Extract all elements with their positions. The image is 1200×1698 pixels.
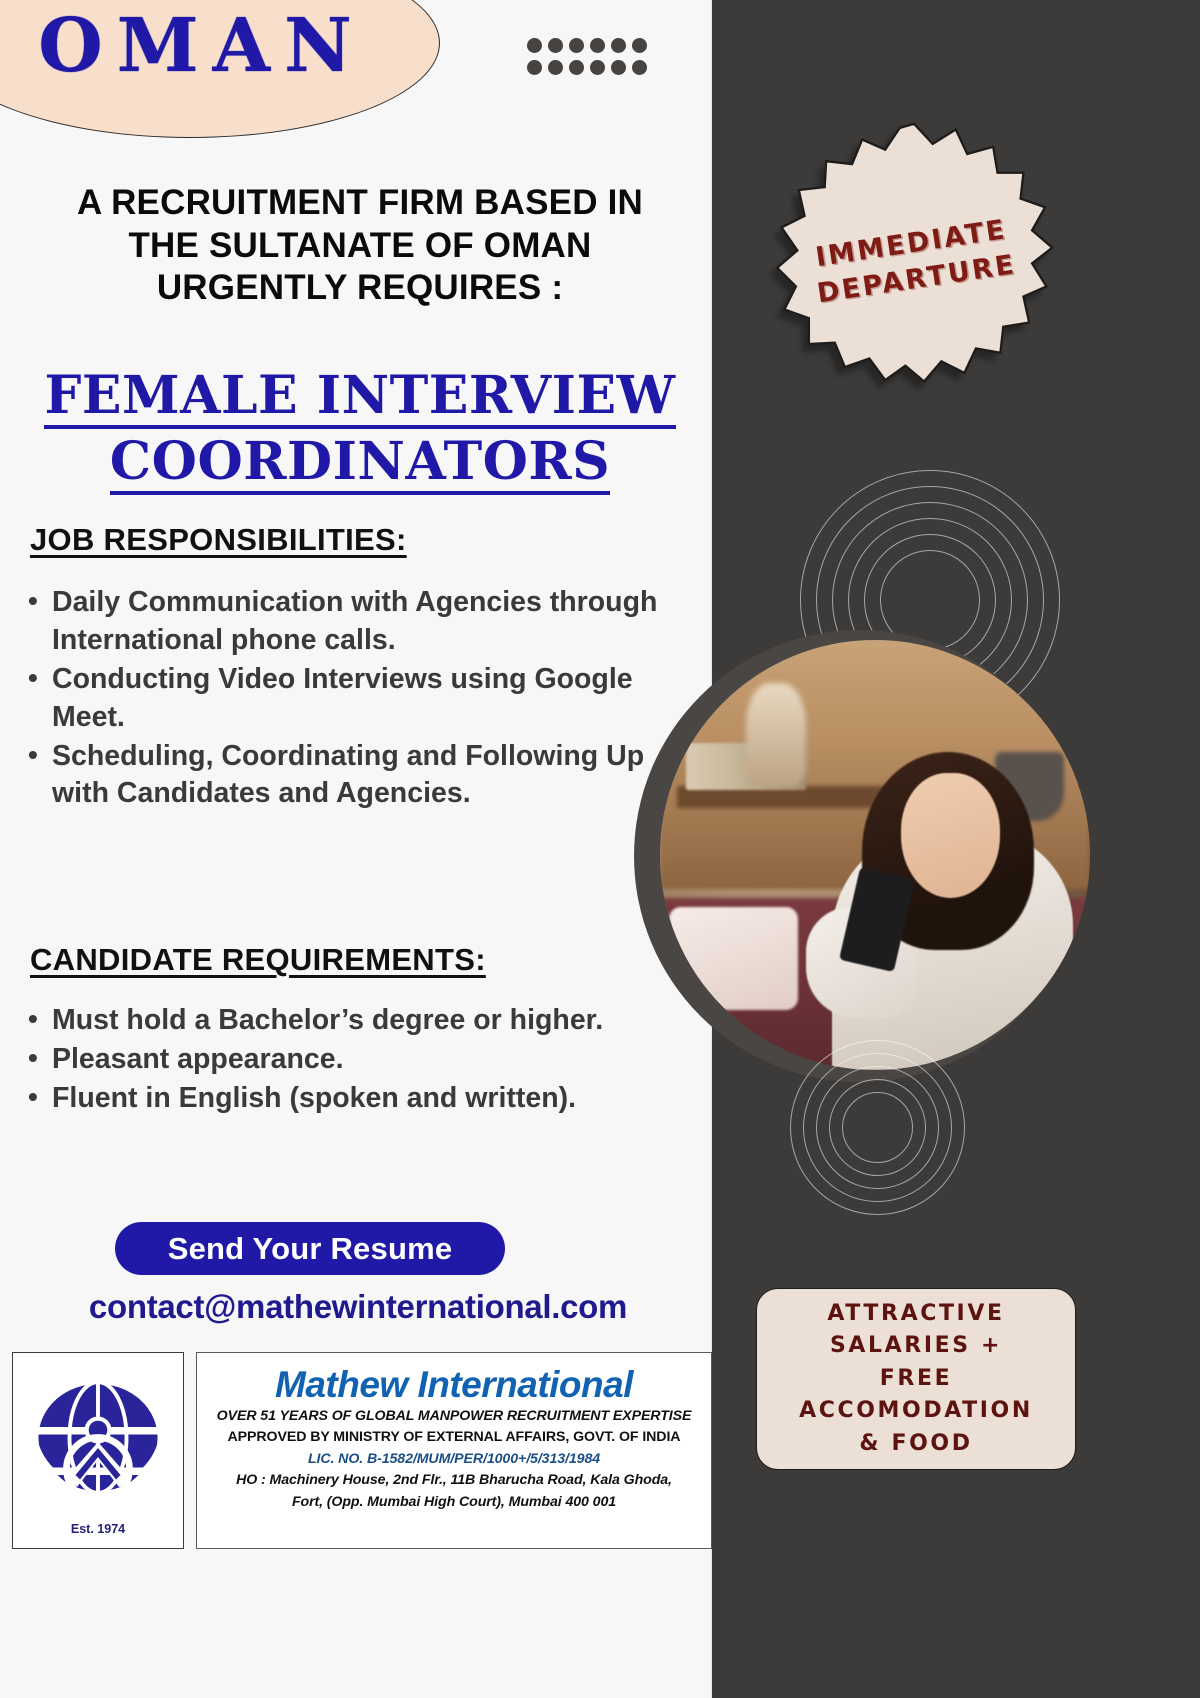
company-name: Mathew International [197,1365,711,1406]
photo-person-face [901,773,1000,898]
dot [527,38,542,53]
company-approval: APPROVED BY MINISTRY OF EXTERNAL AFFAIRS… [197,1427,711,1449]
headline-line-3: URGENTLY REQUIRES : [30,267,690,310]
country-badge-label: OMAN [14,0,365,89]
dot [611,60,626,75]
company-license: LIC. NO. B-1582/MUM/PER/1000+/5/313/1984 [197,1449,711,1471]
dot [569,60,584,75]
responsibilities-list: Daily Communication with Agencies throug… [22,584,672,814]
job-title-line-1: FEMALE INTERVIEW [44,368,675,429]
immediate-departure-text: IMMEDIATE DEPARTURE [744,97,1083,426]
recruitment-poster: OMAN A RECRUITMENT FIRM BASED IN THE SUL… [0,0,1200,1698]
dot [548,60,563,75]
send-resume-button[interactable]: Send Your Resume [115,1222,505,1275]
headline-line-1: A RECRUITMENT FIRM BASED IN [30,182,690,225]
job-title-line-2: COORDINATORS [110,434,610,495]
dot-grid-decoration [527,38,653,82]
requirements-list: Must hold a Bachelor’s degree or higher.… [22,1002,672,1119]
dot [590,60,605,75]
requirements-heading: CANDIDATE REQUIREMENTS: [30,942,486,978]
dot [527,60,542,75]
list-item: Fluent in English (spoken and written). [22,1080,672,1118]
salary-line-4: ACCOMODATION [799,1395,1033,1428]
salary-line-2: SALARIES + [830,1330,1002,1363]
list-item: Scheduling, Coordinating and Following U… [22,738,672,814]
photo-pillow [669,907,798,1010]
logo-established-year: Est. 1974 [13,1522,183,1536]
dot [569,38,584,53]
dot [590,38,605,53]
page-title: FEMALE INTERVIEW COORDINATORS [20,368,700,495]
company-address-line-1: HO : Machinery House, 2nd Flr., 11B Bhar… [197,1470,711,1492]
contact-email[interactable]: contact@mathewinternational.com [18,1288,698,1326]
responsibilities-heading: JOB RESPONSIBILITIES: [30,522,407,558]
list-item: Conducting Video Interviews using Google… [22,661,672,737]
company-address-line-2: Fort, (Opp. Mumbai High Court), Mumbai 4… [197,1492,711,1514]
salary-line-1: ATTRACTIVE [827,1298,1004,1331]
dot [632,38,647,53]
company-info-box: Mathew International OVER 51 YEARS OF GL… [196,1352,712,1549]
candidate-photo [660,640,1090,1070]
list-item: Daily Communication with Agencies throug… [22,584,672,660]
headline: A RECRUITMENT FIRM BASED IN THE SULTANAT… [30,182,690,310]
dot [548,38,563,53]
company-logo-box: Est. 1974 [12,1352,184,1549]
list-item: Must hold a Bachelor’s degree or higher. [22,1002,672,1040]
globe-figure-logo-icon [23,1361,173,1511]
immediate-departure-badge: IMMEDIATE DEPARTURE [764,118,1064,406]
headline-line-2: THE SULTANATE OF OMAN [30,225,690,268]
list-item: Pleasant appearance. [22,1041,672,1079]
salary-line-3: FREE [880,1363,952,1396]
photo-lamp [746,683,806,786]
salary-benefits-badge: ATTRACTIVE SALARIES + FREE ACCOMODATION … [756,1288,1076,1470]
company-tagline: OVER 51 YEARS OF GLOBAL MANPOWER RECRUIT… [197,1406,711,1428]
dot [611,38,626,53]
salary-line-5: & FOOD [859,1428,972,1461]
dot [632,60,647,75]
